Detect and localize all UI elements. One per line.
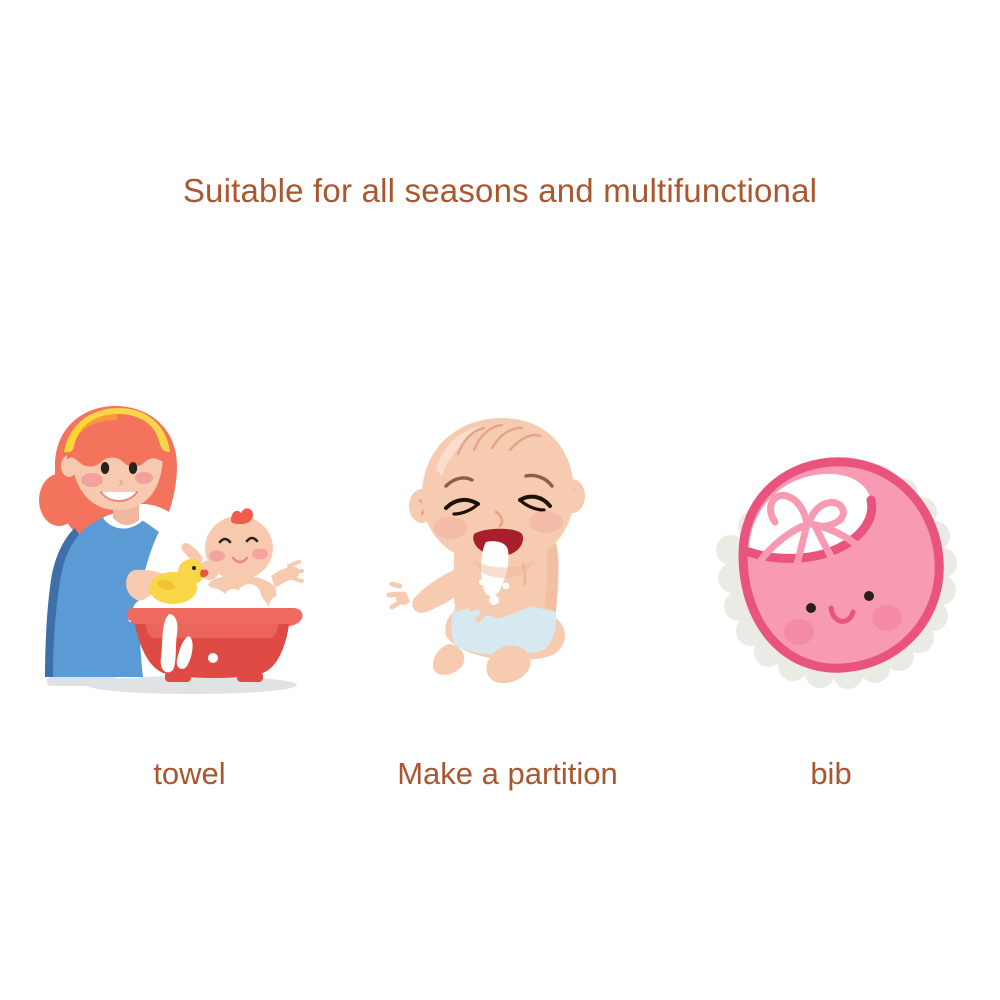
feature-item-partition: Make a partition bbox=[333, 400, 666, 789]
feature-list: towel bbox=[0, 400, 1000, 820]
feature-caption-bib: bib bbox=[810, 758, 851, 789]
feature-caption-partition: Make a partition bbox=[397, 758, 618, 789]
page-title: Suitable for all seasons and multifuncti… bbox=[0, 172, 1000, 210]
feature-item-towel: towel bbox=[0, 400, 333, 789]
mother-bathing-baby-icon bbox=[17, 400, 317, 700]
baby-spitting-milk-icon bbox=[350, 400, 650, 700]
feature-panel: Suitable for all seasons and multifuncti… bbox=[0, 0, 1000, 1000]
feature-item-bib: bib bbox=[666, 400, 1000, 789]
feature-caption-towel: towel bbox=[153, 758, 225, 789]
pink-bib-icon bbox=[683, 400, 983, 700]
